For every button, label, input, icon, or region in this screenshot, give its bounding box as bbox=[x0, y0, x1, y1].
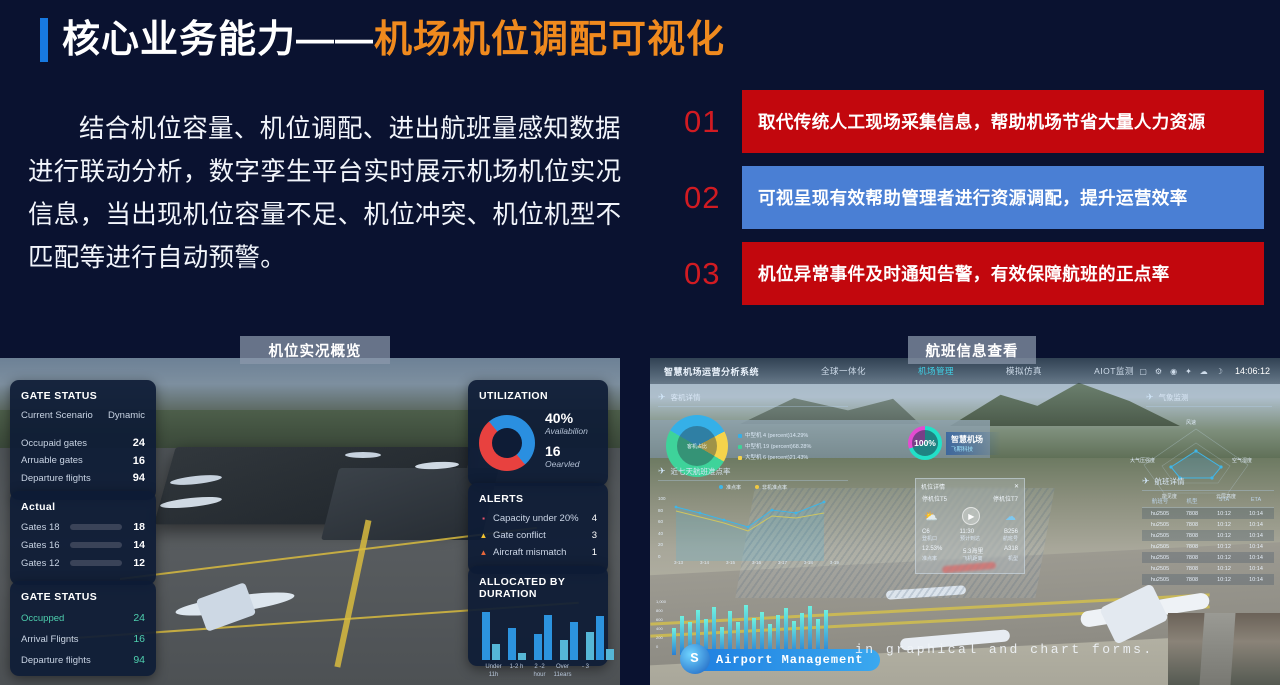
progress-track bbox=[70, 524, 122, 530]
scenario-row: Current Scenario Dynamic bbox=[21, 410, 145, 421]
app-title: 智慧机场运营分析系统 bbox=[664, 365, 759, 378]
bar bbox=[492, 644, 500, 660]
panel-title: 气象监测 bbox=[1159, 392, 1189, 403]
square-icon: ▪ bbox=[479, 514, 488, 523]
utilization-count-label: Oearvled bbox=[545, 459, 588, 469]
bar bbox=[808, 606, 812, 655]
scenario-value: Dynamic bbox=[108, 410, 145, 421]
legend-item: 大型机 6 (percent)21.43% bbox=[738, 453, 811, 464]
table-row[interactable]: hu2505780810:1210:14 bbox=[1142, 563, 1274, 574]
popup-label: 准点率 bbox=[922, 555, 937, 562]
aircraft-type-donut-chart: 客机占比 bbox=[666, 415, 728, 477]
card-title: UTILIZATION bbox=[479, 390, 597, 402]
airplane-icon: ✈ bbox=[658, 392, 666, 403]
row-value: 94 bbox=[133, 472, 145, 484]
airplane-icon: ✈ bbox=[1146, 392, 1154, 403]
bar bbox=[586, 632, 594, 660]
column-header: 航班号 bbox=[1145, 497, 1175, 505]
card-title: GATE STATUS bbox=[21, 591, 145, 603]
cloud-icon[interactable]: ☁ bbox=[1200, 367, 1208, 376]
row-label: Departure flights bbox=[21, 655, 91, 666]
table-row: Gates 16 14 bbox=[21, 539, 145, 551]
badge-line2: 飞期科技 bbox=[951, 445, 983, 453]
list-item: ▲ Aircraft mismatch 1 bbox=[479, 547, 597, 558]
table-row: Departure flights 94 bbox=[21, 654, 145, 666]
point-text: 机位异常事件及时通知告警，有效保障航班的正点率 bbox=[742, 242, 1264, 305]
screenshot-flight-info: 智慧机场运营分析系统 全球一体化 机场管理 模拟仿真 AIOT监测 ▢ ⚙ ◉ … bbox=[650, 358, 1280, 685]
progress-ring: 100% bbox=[908, 426, 942, 460]
warning-triangle-icon: ▲ bbox=[479, 531, 488, 540]
legend-item: 准点率 bbox=[719, 484, 741, 491]
list-item: ▪ Capacity under 20% 4 bbox=[479, 513, 597, 524]
alert-label: Aircraft mismatch bbox=[493, 547, 566, 558]
row-label: Arruable gates bbox=[21, 455, 83, 466]
stand-left-label: 停机位T5 bbox=[922, 494, 947, 503]
tab-aiot-monitor[interactable]: AIOT监测 bbox=[1094, 365, 1134, 377]
row-value: 94 bbox=[133, 654, 145, 666]
panel-title: 客机详情 bbox=[671, 392, 701, 403]
table-row: Gates 12 12 bbox=[21, 557, 145, 569]
tab-simulation[interactable]: 模拟仿真 bbox=[1006, 365, 1042, 377]
popup-label: 预计到达 bbox=[960, 535, 980, 542]
brand-logo-icon: S bbox=[680, 644, 710, 674]
axis-tick: 2 -2 hour bbox=[528, 663, 551, 679]
point-number: 02 bbox=[684, 182, 742, 213]
screen-icon[interactable]: ▢ bbox=[1139, 367, 1147, 376]
allocated-axis-labels: Under 11h 1-2 h 2 -2 hour Over 11ears - … bbox=[479, 663, 597, 679]
badge-line1: 智慧机场 bbox=[951, 434, 983, 445]
bar-group bbox=[586, 616, 614, 660]
row-value: 16 bbox=[133, 633, 145, 645]
x-axis-ticks: 3-133-14 3-153-16 3-173-18 3-19 bbox=[674, 560, 839, 565]
bar bbox=[570, 622, 578, 660]
popup-value: A318 bbox=[1004, 546, 1018, 555]
smart-airport-badge: 100% 智慧机场 飞期科技 bbox=[908, 426, 1001, 460]
brand-badge-label: Airport Management bbox=[716, 653, 864, 667]
tab-global-integration[interactable]: 全球一体化 bbox=[821, 365, 866, 377]
point-text: 可视呈现有效帮助管理者进行资源调配，提升运营效率 bbox=[742, 166, 1264, 229]
alert-triangle-icon: ▲ bbox=[479, 548, 488, 557]
radar-axis-label: 大气压强度 bbox=[1130, 457, 1155, 464]
bar bbox=[544, 615, 552, 660]
clock-time: 14:06:12 bbox=[1235, 366, 1270, 376]
panel-ontime-rate: ✈ 近七天航班准点率 准点率 非机准点率 100 80 60 40 20 0 bbox=[658, 466, 848, 565]
donut-legend: 中型机 4 (percent)14.29% 中型机 19 (percent)68… bbox=[738, 431, 811, 464]
utilization-stats: 40% Availabilion 16 Oearvled bbox=[545, 410, 588, 476]
card-actual: Actual Gates 18 18 Gates 16 14 Gates 12 … bbox=[10, 491, 156, 585]
badge-label: 智慧机场 飞期科技 bbox=[946, 432, 1001, 455]
page-title-accent: 机场机位调配可视化 bbox=[374, 21, 725, 59]
allocated-bar-chart bbox=[479, 608, 597, 660]
list-item: 02 可视呈现有效帮助管理者进行资源调配，提升运营效率 bbox=[684, 166, 1264, 229]
bar bbox=[482, 612, 490, 660]
row-label: Occupaid gates bbox=[21, 438, 87, 449]
gear-icon[interactable]: ⚙ bbox=[1155, 367, 1162, 376]
moon-icon[interactable]: ☽ bbox=[1216, 367, 1223, 376]
alert-count: 1 bbox=[592, 547, 597, 558]
point-text: 取代传统人工现场采集信息，帮助机场节省大量人力资源 bbox=[742, 90, 1264, 153]
tagline-text: in graphical and chart forms. bbox=[855, 642, 1154, 657]
close-icon[interactable]: ✕ bbox=[1014, 483, 1019, 490]
bar-group bbox=[508, 628, 526, 660]
popup-values-row2: 12.53% 5.3海里 A318 bbox=[916, 546, 1024, 555]
stand-right-label: 停机位T7 bbox=[993, 494, 1018, 503]
row-value: 18 bbox=[129, 521, 145, 533]
table-header-row: 航班号 机型 STA ETA bbox=[1142, 494, 1274, 508]
row-label: Arrival Flignts bbox=[21, 634, 79, 645]
popup-label: 航班号 bbox=[1003, 535, 1018, 542]
key-points-list: 01 取代传统人工现场采集信息，帮助机场节省大量人力资源 02 可视呈现有效帮助… bbox=[684, 90, 1264, 318]
card-allocated-by-duration: ALLOCATED BY DURATION bbox=[468, 566, 608, 666]
progress-track bbox=[70, 542, 122, 548]
card-gate-status-bottom: GATE STATUS Occupped 24 Arrival Flignts … bbox=[10, 581, 156, 676]
row-value: 12 bbox=[129, 557, 145, 569]
cloud-icon: ⛅ bbox=[924, 510, 938, 523]
airplane-icon: ✈ bbox=[658, 466, 666, 477]
axis-tick: - 3 bbox=[574, 663, 597, 679]
card-title: ALERTS bbox=[479, 493, 597, 505]
row-label: Gates 18 bbox=[21, 522, 63, 533]
donut-center-label: 客机占比 bbox=[666, 415, 728, 477]
bar bbox=[744, 605, 748, 655]
bar-group bbox=[560, 622, 578, 660]
clock-icon[interactable]: ◉ bbox=[1170, 367, 1177, 376]
row-value: 24 bbox=[133, 612, 145, 624]
popup-label: 登机口 bbox=[922, 535, 937, 542]
popup-header: 机位详情 ✕ bbox=[916, 479, 1024, 494]
table-row: Arrival Flignts 16 bbox=[21, 633, 145, 645]
table-row[interactable]: hu2505780810:1210:14 bbox=[1142, 552, 1274, 563]
row-value: 14 bbox=[129, 539, 145, 551]
scenario-label: Current Scenario bbox=[21, 410, 93, 421]
bar bbox=[606, 649, 614, 660]
screenshot-gate-overview: GATE STATUS Current Scenario Dynamic Occ… bbox=[0, 358, 620, 685]
bar bbox=[712, 607, 716, 655]
panel-aircraft-detail: ✈ 客机详情 客机占比 中型机 4 (percent)14.29% 中型机 19… bbox=[658, 392, 848, 477]
popup-value: 12.53% bbox=[922, 546, 942, 555]
table-row[interactable]: hu2505780810:1210:14 bbox=[1142, 530, 1274, 541]
bar bbox=[672, 628, 676, 655]
y-axis-ticks: 1,000 800 600 400 200 0 bbox=[656, 597, 666, 651]
table-row: Gates 18 18 bbox=[21, 521, 145, 533]
point-number: 01 bbox=[684, 106, 742, 137]
panel-flight-table: ✈ 航班详情 航班号 机型 STA ETA hu2505780810:1210:… bbox=[1142, 476, 1274, 585]
card-utilization: UTILIZATION 40% Availabilion 16 Oearvled bbox=[468, 380, 608, 486]
airplane-icon: ✈ bbox=[1142, 476, 1150, 487]
popup-labels-row: 登机口 预计到达 航班号 bbox=[916, 535, 1024, 542]
table-row[interactable]: hu2505780810:1210:14 bbox=[1142, 519, 1274, 530]
tab-airport-management[interactable]: 机场管理 bbox=[918, 365, 954, 377]
bar bbox=[534, 634, 542, 660]
legend-item: 中型机 4 (percent)14.29% bbox=[738, 431, 811, 442]
card-gate-status-top: GATE STATUS Current Scenario Dynamic Occ… bbox=[10, 380, 156, 500]
nav-tabs: 全球一体化 机场管理 模拟仿真 AIOT监测 bbox=[821, 365, 1134, 377]
bar bbox=[508, 628, 516, 660]
alert-count: 3 bbox=[592, 530, 597, 541]
axis-tick: Over 11ears bbox=[551, 663, 574, 679]
bar-group bbox=[534, 615, 552, 660]
popup-value: 5.3海里 bbox=[963, 546, 983, 555]
legend-item: 中型机 19 (percent)68.28% bbox=[738, 442, 811, 453]
column-header: ETA bbox=[1241, 497, 1271, 505]
radar-axis-label: 空气湿度 bbox=[1232, 457, 1252, 464]
utilization-percent-label: Availabilion bbox=[545, 426, 588, 436]
popup-title: 机位详情 bbox=[921, 482, 945, 491]
table-row: Occupped 24 bbox=[21, 612, 145, 624]
bar bbox=[596, 616, 604, 660]
alert-label: Gate conflict bbox=[493, 530, 546, 541]
y-axis-ticks: 100 80 60 40 20 0 bbox=[658, 493, 666, 562]
panel-header: ✈ 客机详情 bbox=[658, 392, 848, 407]
utilization-donut-chart bbox=[479, 415, 535, 471]
play-button[interactable]: ▶ bbox=[962, 507, 980, 525]
cloud-icon: ☁ bbox=[1005, 510, 1016, 523]
legend-item: 非机准点率 bbox=[755, 484, 787, 491]
row-label: Gates 12 bbox=[21, 558, 63, 569]
card-title: Actual bbox=[21, 501, 145, 513]
bar bbox=[784, 608, 788, 655]
column-header: STA bbox=[1209, 497, 1239, 505]
bar-group bbox=[482, 612, 500, 660]
slide-header: 核心业务能力—— 机场机位调配可视化 bbox=[0, 0, 1280, 78]
column-header: 机型 bbox=[1177, 497, 1207, 505]
table-row: Arruable gates 16 bbox=[21, 455, 145, 467]
panel-header: ✈ 航班详情 bbox=[1142, 476, 1274, 491]
table-row: Occupaid gates 24 bbox=[21, 437, 145, 449]
panel-header: ✈ 气象监测 bbox=[1146, 392, 1272, 407]
bar bbox=[518, 653, 526, 660]
popup-stand-labels: 停机位T5 停机位T7 bbox=[916, 494, 1024, 503]
axis-tick: 1-2 h bbox=[505, 663, 528, 679]
progress-track bbox=[70, 560, 122, 566]
point-number: 03 bbox=[684, 258, 742, 289]
page-title: 核心业务能力—— 机场机位调配可视化 bbox=[62, 12, 725, 68]
alert-count: 4 bbox=[592, 513, 597, 524]
popup-media-row: ⛅ ▶ ☁ bbox=[916, 503, 1024, 529]
star-icon[interactable]: ✦ bbox=[1185, 367, 1192, 376]
card-title: GATE STATUS bbox=[21, 390, 145, 402]
road-graphic bbox=[1199, 613, 1235, 685]
table-row[interactable]: hu2505780810:1210:14 bbox=[1142, 574, 1274, 585]
utilization-count: 16 bbox=[545, 443, 588, 459]
gate-detail-popup: 机位详情 ✕ 停机位T5 停机位T7 ⛅ ▶ ☁ C6 11:30 B256 登… bbox=[915, 478, 1025, 574]
card-title: ALLOCATED BY DURATION bbox=[479, 576, 597, 600]
table-row[interactable]: hu2505780810:1210:14 bbox=[1142, 541, 1274, 552]
list-item: 03 机位异常事件及时通知告警，有效保障航班的正点率 bbox=[684, 242, 1264, 305]
flight-table: 航班号 机型 STA ETA hu2505780810:1210:14 hu25… bbox=[1142, 494, 1274, 585]
row-value: 16 bbox=[133, 455, 145, 467]
bar bbox=[560, 640, 568, 660]
row-value: 24 bbox=[133, 437, 145, 449]
panel-title: 航班详情 bbox=[1155, 476, 1185, 487]
list-item: ▲ Gate conflict 3 bbox=[479, 530, 597, 541]
title-accent-bar bbox=[40, 18, 48, 62]
radar-axis-label: 风速 bbox=[1186, 419, 1196, 426]
card-alerts: ALERTS ▪ Capacity under 20% 4 ▲ Gate con… bbox=[468, 483, 608, 574]
caption-right: 航班信息查看 bbox=[908, 336, 1036, 364]
popup-label: 飞机距离 bbox=[962, 555, 982, 562]
line-legend: 准点率 非机准点率 bbox=[658, 484, 848, 491]
line-chart-svg bbox=[674, 493, 839, 561]
ontime-line-chart: 100 80 60 40 20 0 3-133-14 3-153-16 3-17… bbox=[658, 493, 848, 565]
utilization-donut-wrap: 40% Availabilion 16 Oearvled bbox=[479, 410, 597, 476]
alert-label: Capacity under 20% bbox=[493, 513, 579, 524]
row-label: Departure flights bbox=[21, 473, 91, 484]
table-row[interactable]: hu2505780810:1210:14 bbox=[1142, 508, 1274, 519]
status-icon-group: ▢ ⚙ ◉ ✦ ☁ ☽ 14:06:12 bbox=[1139, 366, 1270, 376]
aircraft bbox=[345, 452, 381, 458]
row-label: Occupped bbox=[21, 613, 64, 624]
table-row: Departure flights 94 bbox=[21, 472, 145, 484]
popup-label: 机型 bbox=[1008, 555, 1018, 562]
page-title-main: 核心业务能力—— bbox=[62, 21, 374, 59]
brand-badge[interactable]: S Airport Management bbox=[690, 649, 880, 671]
side-thumbnail-image bbox=[1168, 613, 1280, 685]
axis-tick: Under 11h bbox=[482, 663, 505, 679]
utilization-percent: 40% bbox=[545, 410, 588, 426]
intro-paragraph: 结合机位容量、机位调配、进出航班量感知数据进行联动分析，数字孪生平台实时展示机场… bbox=[28, 108, 628, 280]
caption-left: 机位实况概览 bbox=[240, 336, 390, 364]
popup-labels-row2: 准点率 飞机距离 机型 bbox=[916, 555, 1024, 562]
list-item: 01 取代传统人工现场采集信息，帮助机场节省大量人力资源 bbox=[684, 90, 1264, 153]
row-label: Gates 16 bbox=[21, 540, 63, 551]
progress-value: 100% bbox=[908, 426, 942, 460]
